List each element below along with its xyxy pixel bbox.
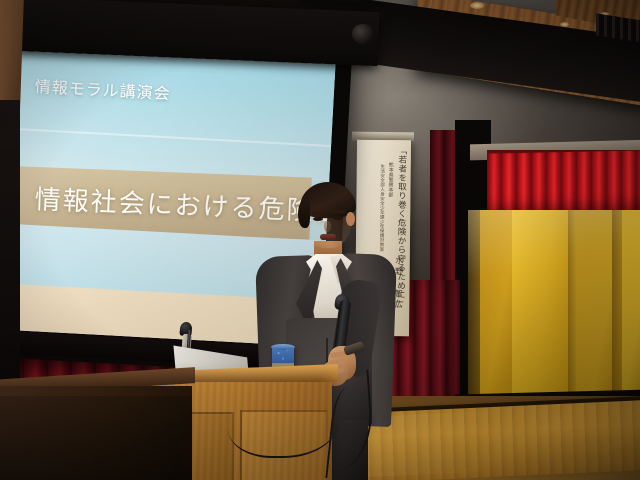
table-shadow: [0, 396, 192, 480]
gold-folding-screen: [468, 210, 640, 420]
cup-rim: [271, 344, 295, 350]
eye-right: [333, 216, 343, 220]
wall-dark-edge: [0, 100, 20, 400]
floor-cable: [228, 386, 338, 458]
gold-screen-sheen: [468, 210, 640, 402]
ceiling-light-icon: [560, 22, 569, 27]
red-pleated-valance: [487, 150, 640, 215]
nose: [324, 221, 331, 232]
slide-blue-field: [0, 45, 336, 184]
ear: [346, 212, 355, 226]
photo-scene: 「若者を取り巻く危険から守るために」 熊本県警察本部 生活安全部人身安全少年課少…: [0, 0, 640, 480]
hair-sideburn: [298, 200, 310, 228]
mouth: [320, 234, 336, 240]
wood-pillar: [0, 0, 24, 110]
eye-left: [313, 217, 323, 221]
ceiling-light-icon: [470, 2, 484, 9]
